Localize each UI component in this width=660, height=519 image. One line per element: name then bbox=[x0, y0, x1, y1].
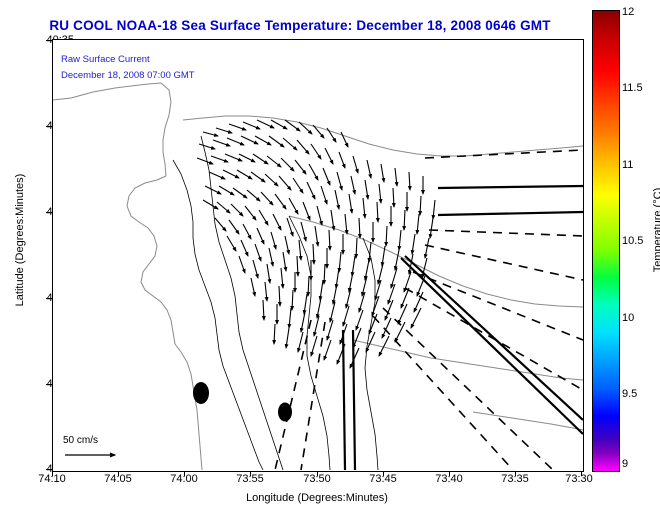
scale-label: 50 cm/s bbox=[63, 435, 98, 446]
y-axis: Latitude (Degrees:Minutes) bbox=[0, 0, 52, 470]
colorbar-label: Temperature (°C) bbox=[652, 150, 660, 310]
page-title: RU COOL NOAA-18 Sea Surface Temperature:… bbox=[0, 18, 600, 33]
colorbar-tick-9-5: 9.5 bbox=[622, 388, 637, 400]
y-axis-label: Latitude (Degrees:Minutes) bbox=[14, 140, 26, 340]
radar-beam-lines-solid bbox=[343, 186, 583, 470]
x-axis-label: Longitude (Degrees:Minutes) bbox=[52, 492, 582, 504]
colorbar-tick-9: 9 bbox=[622, 458, 628, 470]
coastline bbox=[53, 83, 583, 470]
colorbar-tick-11: 11 bbox=[622, 159, 633, 171]
annotation-current-label: Raw Surface Current bbox=[61, 54, 150, 65]
colorbar-tick-11-5: 11.5 bbox=[622, 82, 643, 94]
annotation-current-time: December 18, 2008 07:00 GMT bbox=[61, 70, 195, 81]
colorbar-tick-12: 12 bbox=[622, 6, 634, 18]
radar-site-markers bbox=[193, 382, 292, 422]
x-tick-73-30: 73:30 bbox=[549, 473, 609, 485]
map-svg bbox=[53, 40, 583, 471]
colorbar-tick-10: 10 bbox=[622, 312, 634, 324]
colorbar-tick-10-5: 10.5 bbox=[622, 235, 643, 247]
colorbar bbox=[592, 10, 620, 472]
map-plot-area[interactable]: Raw Surface Current December 18, 2008 07… bbox=[52, 39, 584, 472]
surface-current-vectors bbox=[197, 120, 435, 368]
